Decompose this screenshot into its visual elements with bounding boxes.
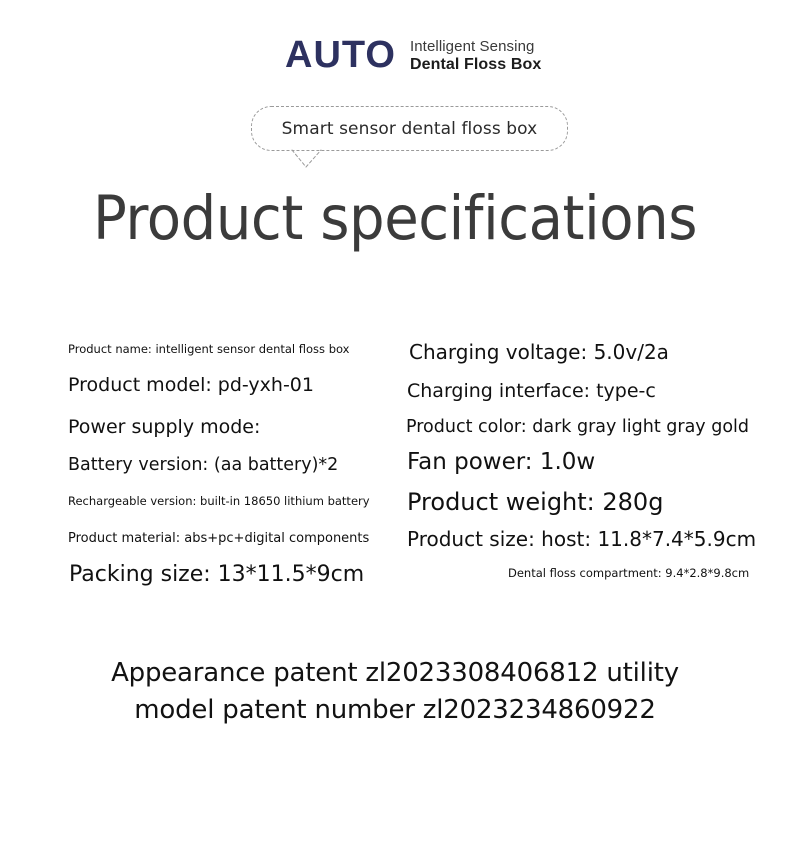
product-specification-page: AUTO Intelligent Sensing Dental Floss Bo… (0, 0, 790, 846)
spec-power-supply-mode: Power supply mode: (68, 418, 260, 437)
spec-charging-voltage: Charging voltage: 5.0v/2a (409, 342, 669, 362)
brand-wordmark: AUTO (285, 36, 396, 74)
spec-product-color: Product color: dark gray light gray gold (406, 419, 749, 437)
brand-logo: AUTO Intelligent Sensing Dental Floss Bo… (285, 36, 541, 75)
brand-tagline-line-1: Intelligent Sensing (410, 38, 541, 56)
patent-statement-line-1: Appearance patent zl2023308406812 utilit… (0, 655, 790, 692)
callout-bubble: Smart sensor dental floss box (251, 106, 568, 151)
spec-floss-compartment: Dental floss compartment: 9.4*2.8*9.8cm (508, 568, 749, 580)
spec-rechargeable-version: Rechargeable version: built-in 18650 lit… (68, 496, 370, 508)
callout-bubble-tail-icon (290, 149, 324, 169)
spec-packing-size: Packing size: 13*11.5*9cm (69, 564, 364, 586)
spec-fan-power: Fan power: 1.0w (407, 451, 595, 474)
page-title: Product specifications (32, 185, 759, 253)
brand-tagline: Intelligent Sensing Dental Floss Box (410, 36, 541, 75)
spec-product-name: Product name: intelligent sensor dental … (68, 344, 350, 356)
callout-bubble-text: Smart sensor dental floss box (282, 119, 538, 139)
spec-product-size-host: Product size: host: 11.8*7.4*5.9cm (407, 529, 756, 549)
brand-tagline-line-2: Dental Floss Box (410, 56, 541, 75)
spec-product-material: Product material: abs+pc+digital compone… (68, 532, 369, 545)
spec-product-weight: Product weight: 280g (407, 490, 663, 514)
spec-battery-version: Battery version: (aa battery)*2 (68, 457, 338, 475)
spec-charging-interface: Charging interface: type-c (407, 382, 656, 401)
spec-product-model: Product model: pd-yxh-01 (68, 376, 314, 395)
patent-statement-line-2: model patent number zl2023234860922 (0, 692, 790, 729)
patent-statement: Appearance patent zl2023308406812 utilit… (0, 655, 790, 729)
